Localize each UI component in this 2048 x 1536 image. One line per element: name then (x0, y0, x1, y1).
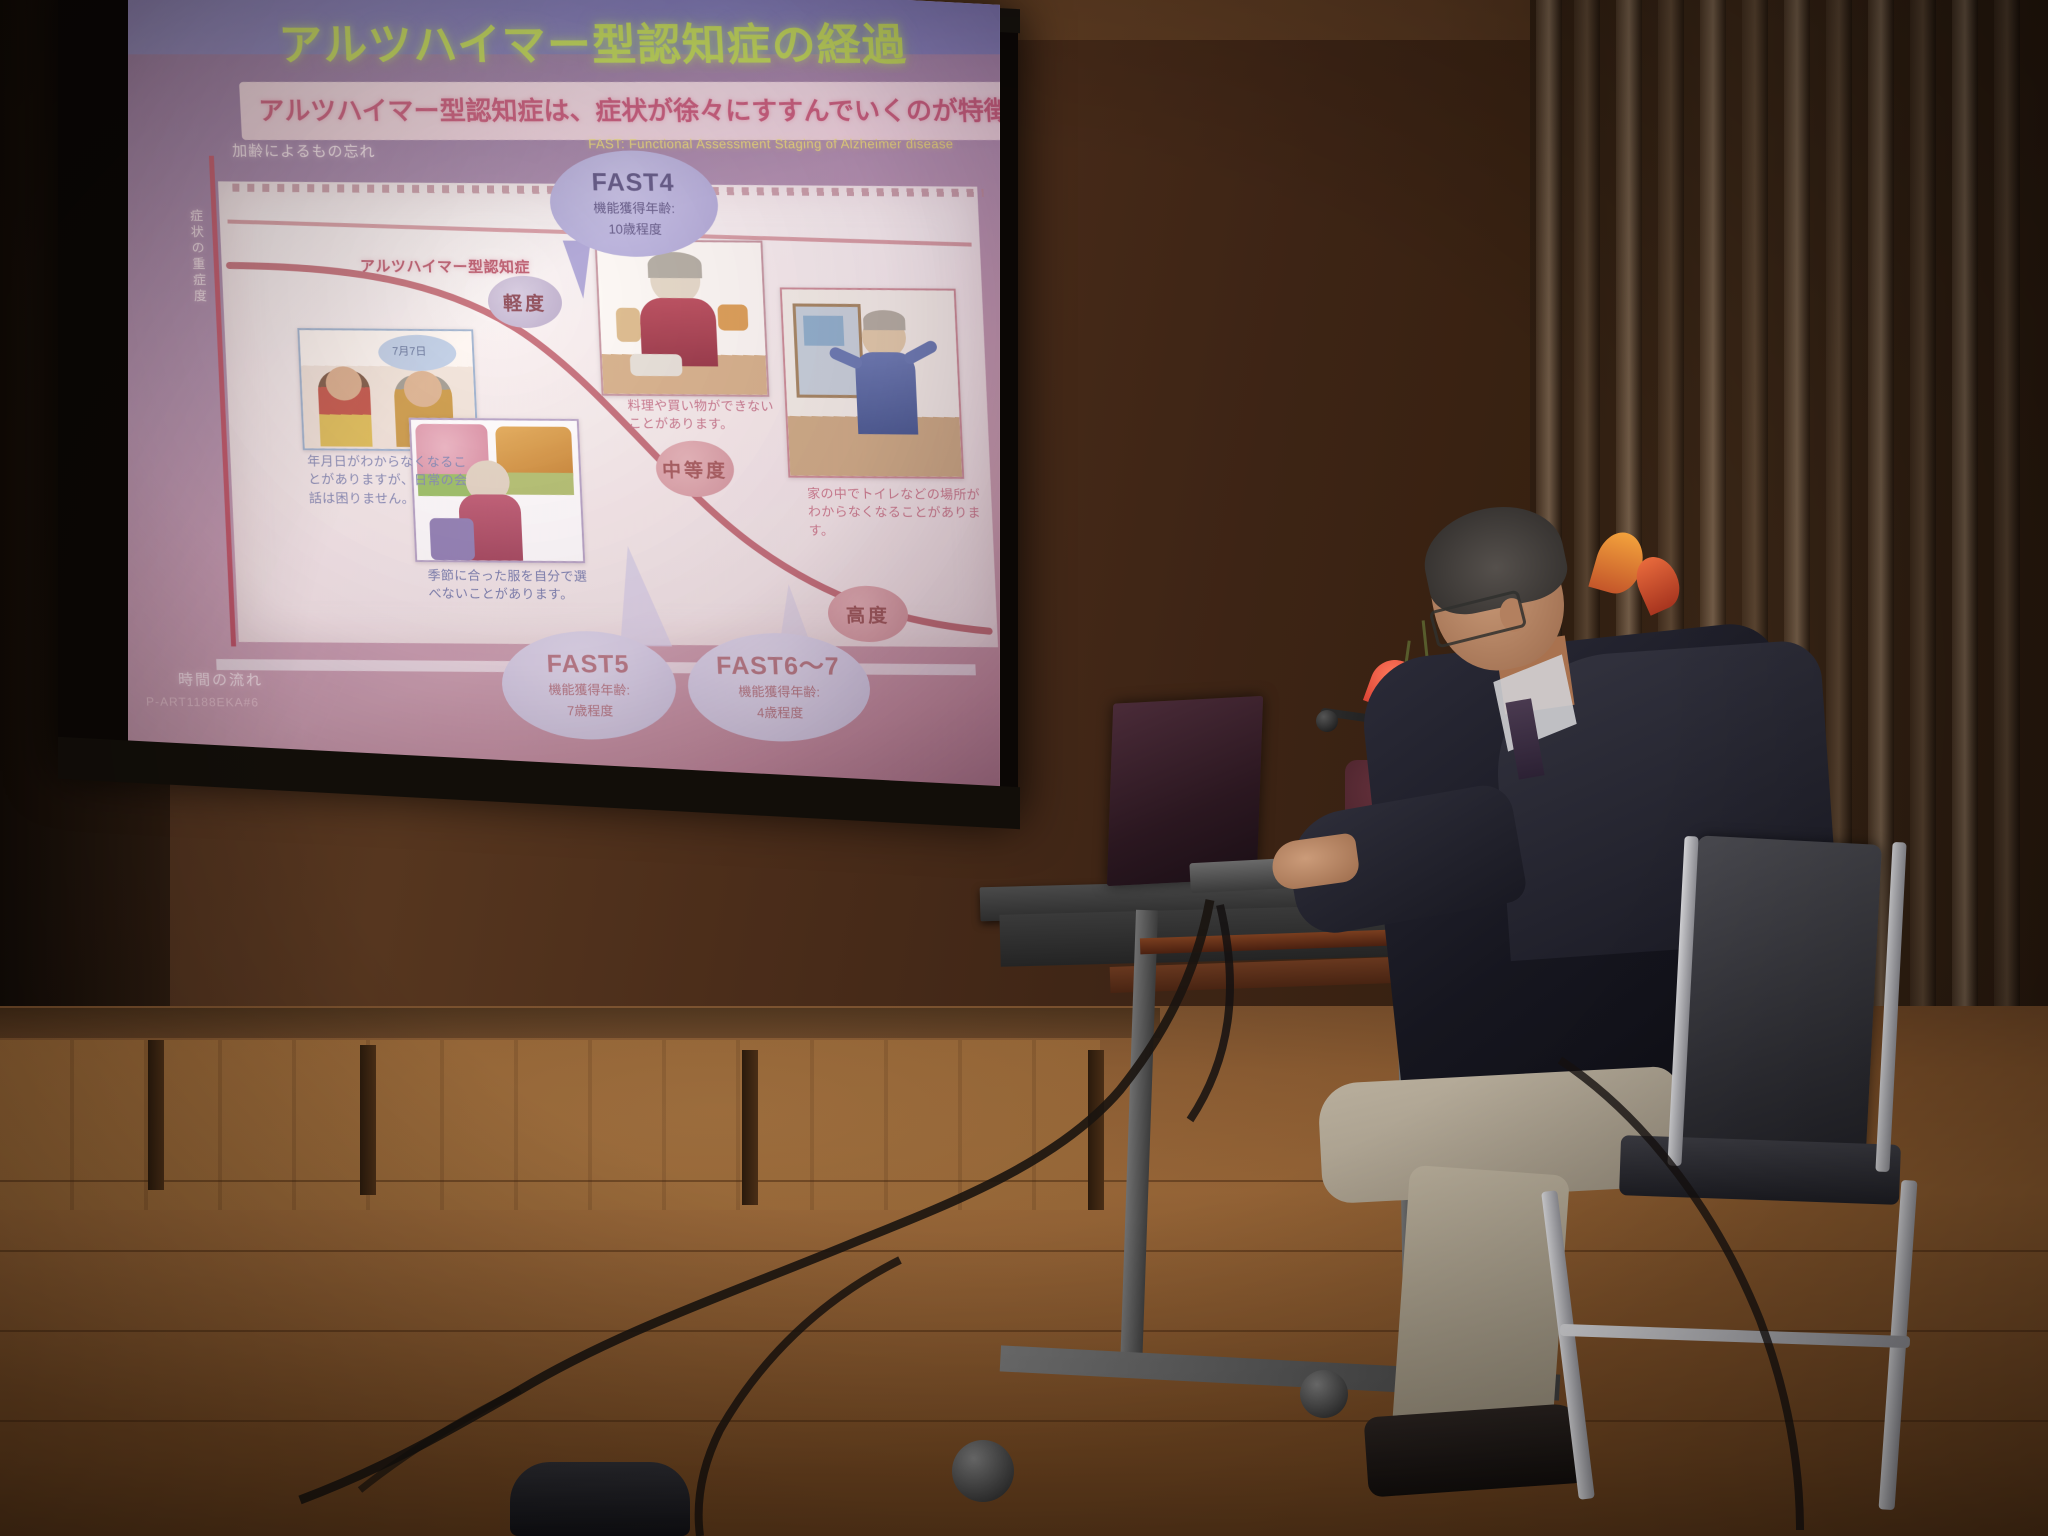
note-date-confusion: 年月日がわからなくなることがありますが、日常の会話は困りません。 (307, 452, 481, 509)
bubble-fast5-line1: 機能獲得年齢: (548, 681, 630, 699)
bubble-fast67-line2: 4歳程度 (757, 704, 804, 722)
slide-footer-code: P-ART1188EKA#6 (146, 695, 259, 710)
bubble-fast67-stage: FAST6〜7 (716, 652, 841, 680)
presenter-shoe (1363, 1402, 1588, 1497)
bubble-fast5-line2: 7歳程度 (567, 702, 614, 720)
bubble-fast5-stage: FAST5 (546, 651, 630, 679)
microphone-head (1316, 710, 1338, 732)
slide-title: アルツハイマー型認知症の経過 (277, 9, 1000, 73)
x-axis-label: 時間の流れ (178, 669, 264, 691)
chair-seat (1619, 1135, 1901, 1205)
note-spatial-disorientation: 家の中でトイレなどの場所がわからなくなることがあります。 (807, 485, 989, 542)
severity-node-mild-label: 軽度 (502, 288, 547, 315)
bubble-fast4-stage: FAST4 (591, 169, 675, 197)
woman-cooking-confused-illustration: ? (595, 239, 770, 396)
bubble-fast4-line2: 10歳程度 (608, 220, 662, 238)
severity-node-severe-label: 高度 (845, 600, 890, 627)
bubble-fast67-line1: 機能獲得年齢: (738, 683, 820, 701)
bubble-fast5: FAST5 機能獲得年齢: 7歳程度 (500, 631, 679, 740)
table-caster-right (1300, 1370, 1348, 1418)
aging-memory-label: 加齢によるもの忘れ (232, 140, 376, 162)
y-axis-label: 症状の重症度 (186, 209, 209, 305)
alzheimer-curve-label: アルツハイマー型認知症 (360, 255, 531, 277)
table-caster-left (952, 1440, 1014, 1502)
floor-equipment-case (510, 1462, 690, 1536)
laptop-screen[interactable] (1107, 696, 1263, 886)
lecture-hall-photo: アルツハイマー型認知症の経過 アルツハイマー型認知症は、症状が徐々にすすんでいく… (0, 0, 2048, 1536)
severity-node-moderate-label: 中等度 (661, 455, 728, 482)
projected-slide: アルツハイマー型認知症の経過 アルツハイマー型認知症は、症状が徐々にすすんでいく… (128, 0, 1000, 795)
fast-acronym-text: FAST: Functional Assessment Staging of A… (588, 136, 1000, 151)
bubble-fast4-line1: 機能獲得年齢: (593, 200, 675, 218)
slide-subtitle: アルツハイマー型認知症は、症状が徐々にすすんでいくのが特徴です。 (258, 91, 1000, 128)
man-lost-in-house-illustration (780, 287, 964, 478)
note-clothing-choice: 季節に合った服を自分で選べないことがあります。 (427, 567, 598, 605)
bubble-tail-fast4 (563, 241, 594, 299)
note-cooking-shopping: 料理や買い物ができないことがあります。 (627, 397, 779, 435)
chair-backrest (1682, 835, 1882, 1154)
bubble-fast67: FAST6〜7 機能獲得年齢: 4歳程度 (686, 633, 873, 742)
bubble-tail-fast5 (616, 546, 672, 646)
